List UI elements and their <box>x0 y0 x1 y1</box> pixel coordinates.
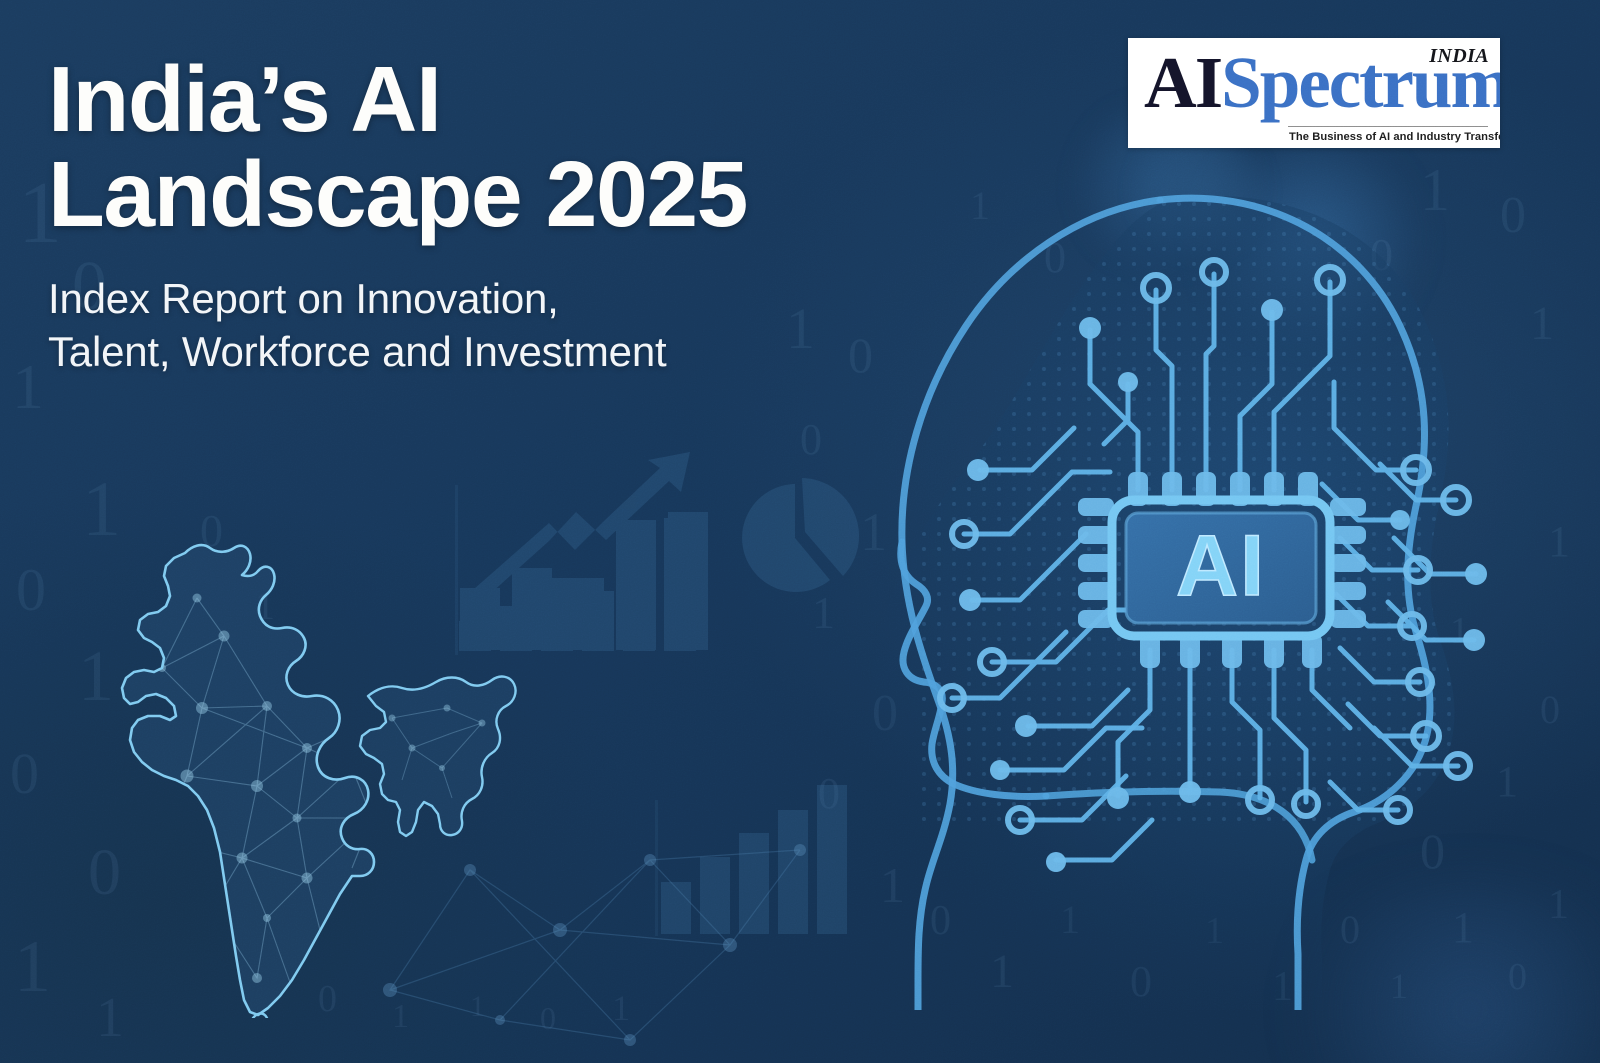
ai-chip: AI <box>1112 500 1330 636</box>
share-pie-chart <box>742 478 859 592</box>
page-subtitle: Index Report on Innovation, Talent, Work… <box>48 272 908 380</box>
logo-tagline: The Business of AI and Industry Transfor… <box>1289 131 1500 143</box>
logo-divider-rule <box>1288 126 1488 127</box>
logo-edition-label: INDIA <box>1429 45 1489 68</box>
network-mesh-decoration <box>330 740 1030 1063</box>
india-map-network <box>52 518 522 1018</box>
publisher-logo[interactable]: AISpectrum INDIA The Business of AI and … <box>1128 38 1500 148</box>
report-cover: 1 0 1 1 0 1 0 0 1 1 0 1 0 1 1 0 1 1 0 0 … <box>0 0 1600 1063</box>
logo-ai-text: AI <box>1144 42 1221 123</box>
background-blob-lowerleft <box>1260 880 1600 1063</box>
svg-text:AI: AI <box>1176 518 1266 614</box>
growth-bar-chart-lower <box>655 785 847 936</box>
background-blob-mid <box>1180 140 1440 340</box>
page-title: India’s AI Landscape 2025 <box>48 52 908 242</box>
ai-head-circuit-graphic: AI <box>860 170 1580 1010</box>
headline-block: India’s AI Landscape 2025 Index Report o… <box>48 52 908 379</box>
growth-bar-chart-upper <box>455 485 708 655</box>
